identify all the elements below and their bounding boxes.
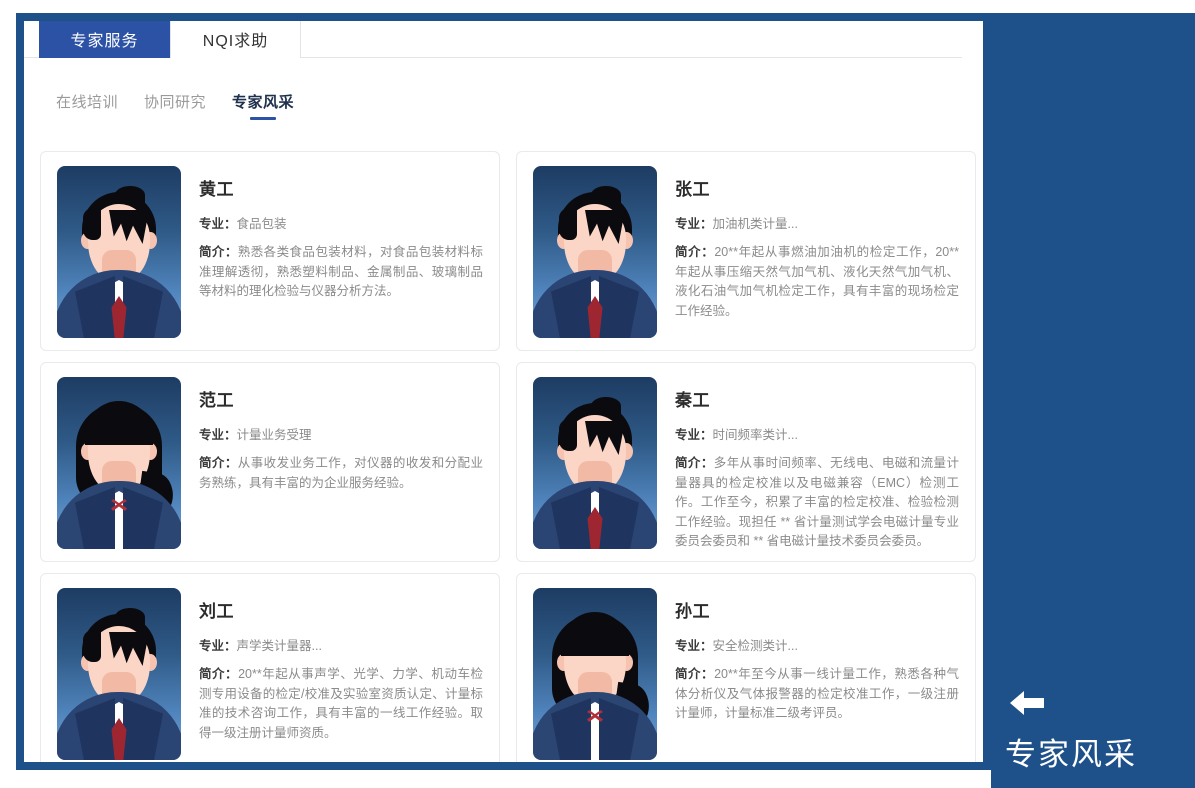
expert-major-field: 专业：加油机类计量... [675, 215, 959, 234]
expert-major-field: 专业：声学类计量器... [199, 637, 483, 656]
expert-major-field: 专业：安全检测类计... [675, 637, 959, 656]
avatar [57, 166, 181, 338]
expert-major-field: 专业：食品包装 [199, 215, 483, 234]
expert-card[interactable]: 秦工 专业：时间频率类计... 简介：多年从事时间频率、无线电、电磁和流量计量器… [516, 362, 976, 562]
primary-tab-bar: 专家服务 NQI求助 [24, 14, 962, 58]
expert-info: 秦工 专业：时间频率类计... 简介：多年从事时间频率、无线电、电磁和流量计量器… [675, 377, 959, 547]
expert-intro-field: 简介：20**年起从事声学、光学、力学、机动车检测专用设备的检定/校准及实验室资… [199, 665, 483, 743]
avatar [533, 166, 657, 338]
expert-name: 刘工 [199, 597, 483, 622]
expert-name: 孙工 [675, 597, 959, 622]
major-value: 安全检测类计... [713, 639, 798, 653]
subtab-online-training[interactable]: 在线培训 [56, 91, 118, 121]
annotation-label: 专家风采 [1005, 729, 1137, 774]
expert-card[interactable]: 孙工 专业：安全检测类计... 简介：20**年至今从事一线计量工作，熟悉各种气… [516, 573, 976, 762]
major-value: 加油机类计量... [713, 217, 798, 231]
intro-value: 20**年起从事声学、光学、力学、机动车检测专用设备的检定/校准及实验室资质认定… [199, 667, 483, 740]
page-content: 专家服务 NQI求助 在线培训 协同研究 专家风采 [24, 13, 991, 762]
tab-expert-service[interactable]: 专家服务 [39, 18, 170, 58]
expert-info: 黄工 专业：食品包装 简介：熟悉各类食品包装材料，对食品包装材料标准理解透彻，熟… [199, 166, 483, 336]
expert-info: 刘工 专业：声学类计量器... 简介：20**年起从事声学、光学、力学、机动车检… [199, 588, 483, 758]
expert-major-field: 专业：计量业务受理 [199, 426, 483, 445]
major-value: 计量业务受理 [237, 428, 312, 442]
major-label: 专业： [675, 639, 713, 653]
major-label: 专业： [199, 428, 237, 442]
subtab-expert-showcase[interactable]: 专家风采 [232, 91, 294, 121]
secondary-tab-bar: 在线培训 协同研究 专家风采 [56, 91, 294, 121]
annotation-panel: 专家风采 [991, 13, 1195, 788]
expert-name: 秦工 [675, 386, 959, 411]
expert-info: 张工 专业：加油机类计量... 简介：20**年起从事燃油加油机的检定工作，20… [675, 166, 959, 336]
major-label: 专业： [675, 217, 713, 231]
expert-info: 范工 专业：计量业务受理 简介：从事收发业务工作，对仪器的收发和分配业务熟练，具… [199, 377, 483, 547]
avatar [57, 377, 181, 549]
major-label: 专业： [199, 217, 237, 231]
primary-tab-strip: 专家服务 NQI求助 [39, 16, 301, 58]
intro-label: 简介： [675, 245, 714, 259]
expert-card-grid: 黄工 专业：食品包装 简介：熟悉各类食品包装材料，对食品包装材料标准理解透彻，熟… [40, 151, 976, 762]
intro-value: 多年从事时间频率、无线电、电磁和流量计量器具的检定校准以及电磁兼容（EMC）检测… [675, 456, 959, 548]
expert-card[interactable]: 刘工 专业：声学类计量器... 简介：20**年起从事声学、光学、力学、机动车检… [40, 573, 500, 762]
avatar [533, 377, 657, 549]
major-label: 专业： [675, 428, 713, 442]
expert-card[interactable]: 范工 专业：计量业务受理 简介：从事收发业务工作，对仪器的收发和分配业务熟练，具… [40, 362, 500, 562]
avatar [57, 588, 181, 760]
expert-major-field: 专业：时间频率类计... [675, 426, 959, 445]
expert-intro-field: 简介：熟悉各类食品包装材料，对食品包装材料标准理解透彻，熟悉塑料制品、金属制品、… [199, 243, 483, 302]
intro-label: 简介： [675, 456, 714, 470]
expert-name: 张工 [675, 175, 959, 200]
expert-name: 黄工 [199, 175, 483, 200]
expert-intro-field: 简介：20**年起从事燃油加油机的检定工作，20**年起从事压缩天然气加气机、液… [675, 243, 959, 321]
major-value: 时间频率类计... [713, 428, 798, 442]
expert-intro-field: 简介：从事收发业务工作，对仪器的收发和分配业务熟练，具有丰富的为企业服务经验。 [199, 454, 483, 493]
intro-label: 简介： [199, 667, 238, 681]
screenshot-root: 专家服务 NQI求助 在线培训 协同研究 专家风采 [0, 0, 1195, 788]
expert-name: 范工 [199, 386, 483, 411]
intro-value: 熟悉各类食品包装材料，对食品包装材料标准理解透彻，熟悉塑料制品、金属制品、玻璃制… [199, 245, 483, 298]
intro-value: 20**年至今从事一线计量工作，熟悉各种气体分析仪及气体报警器的检定校准工作，一… [675, 667, 959, 720]
intro-label: 简介： [199, 456, 238, 470]
major-label: 专业： [199, 639, 237, 653]
arrow-left-icon [1008, 688, 1046, 718]
avatar [533, 588, 657, 760]
expert-intro-field: 简介：多年从事时间频率、无线电、电磁和流量计量器具的检定校准以及电磁兼容（EMC… [675, 454, 959, 552]
major-value: 食品包装 [237, 217, 287, 231]
subtab-collaborative-research[interactable]: 协同研究 [144, 91, 206, 121]
expert-card[interactable]: 张工 专业：加油机类计量... 简介：20**年起从事燃油加油机的检定工作，20… [516, 151, 976, 351]
expert-info: 孙工 专业：安全检测类计... 简介：20**年至今从事一线计量工作，熟悉各种气… [675, 588, 959, 758]
intro-label: 简介： [675, 667, 714, 681]
intro-label: 简介： [199, 245, 238, 259]
intro-value: 从事收发业务工作，对仪器的收发和分配业务熟练，具有丰富的为企业服务经验。 [199, 456, 483, 490]
tab-nqi-help[interactable]: NQI求助 [170, 18, 301, 58]
intro-value: 20**年起从事燃油加油机的检定工作，20**年起从事压缩天然气加气机、液化天然… [675, 245, 959, 318]
expert-card[interactable]: 黄工 专业：食品包装 简介：熟悉各类食品包装材料，对食品包装材料标准理解透彻，熟… [40, 151, 500, 351]
major-value: 声学类计量器... [237, 639, 322, 653]
expert-intro-field: 简介：20**年至今从事一线计量工作，熟悉各种气体分析仪及气体报警器的检定校准工… [675, 665, 959, 724]
